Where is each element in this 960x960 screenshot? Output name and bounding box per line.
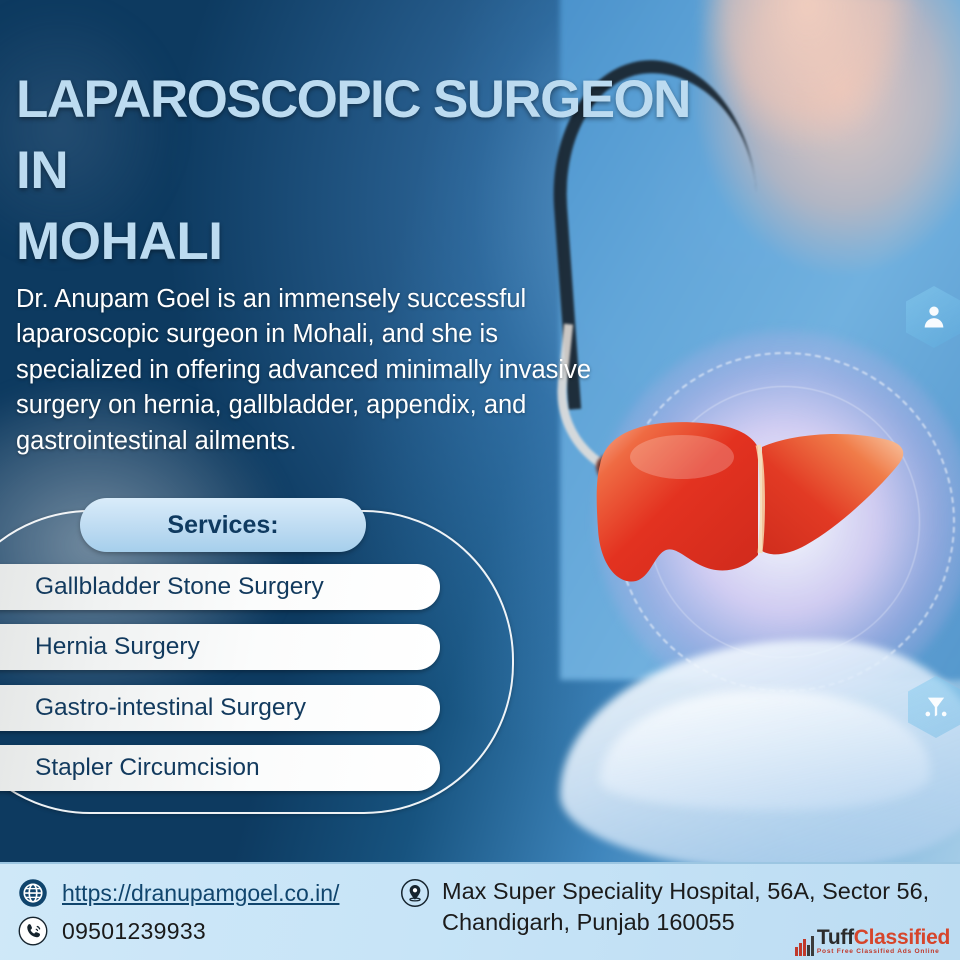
liver-illustration — [592, 405, 912, 635]
location-pin-icon — [398, 876, 432, 910]
poster-canvas: LAPAROSCOPIC SURGEON IN MOHALI Dr. Anupa… — [0, 0, 960, 960]
website-link[interactable]: https://dranupamgoel.co.in/ — [62, 880, 339, 907]
logo-word-classified: Classified — [854, 926, 950, 949]
description-text: Dr. Anupam Goel is an immensely successf… — [16, 282, 616, 459]
logo-bars-icon — [795, 935, 814, 956]
headline-line-1: LAPAROSCOPIC SURGEON — [16, 64, 706, 135]
service-item-label: Stapler Circumcision — [0, 754, 260, 782]
phone-row[interactable]: 09501239933 — [16, 912, 396, 950]
contact-footer: https://dranupamgoel.co.in/ 09501239933 — [0, 862, 960, 960]
service-item-label: Hernia Surgery — [0, 633, 200, 661]
service-item[interactable]: Hernia Surgery — [0, 624, 440, 670]
description-paragraph: Dr. Anupam Goel is an immensely successf… — [16, 282, 616, 459]
logo-word-tuff: Tuff — [817, 926, 854, 949]
logo-tagline: Post Free Classified Ads Online — [817, 949, 950, 956]
service-item-label: Gastro-intestinal Surgery — [0, 694, 306, 722]
service-item[interactable]: Gallbladder Stone Surgery — [0, 564, 440, 610]
service-item-label: Gallbladder Stone Surgery — [0, 573, 324, 601]
headline-line-3: MOHALI — [16, 206, 706, 277]
service-item[interactable]: Stapler Circumcision — [0, 745, 440, 791]
page-title: LAPAROSCOPIC SURGEON IN MOHALI — [16, 64, 706, 277]
phone-number[interactable]: 09501239933 — [62, 918, 206, 945]
services-section: Services: Gallbladder Stone Surgery Hern… — [0, 498, 600, 828]
phone-icon — [16, 914, 50, 948]
services-heading: Services: — [80, 498, 366, 552]
tuffclassified-logo[interactable]: TuffClassified Post Free Classified Ads … — [795, 927, 950, 956]
footer-left-column: https://dranupamgoel.co.in/ 09501239933 — [16, 874, 396, 950]
globe-icon — [16, 876, 50, 910]
headline-line-2: IN — [16, 135, 706, 206]
logo-text: TuffClassified Post Free Classified Ads … — [817, 927, 950, 956]
website-row[interactable]: https://dranupamgoel.co.in/ — [16, 874, 396, 912]
service-item[interactable]: Gastro-intestinal Surgery — [0, 685, 440, 731]
